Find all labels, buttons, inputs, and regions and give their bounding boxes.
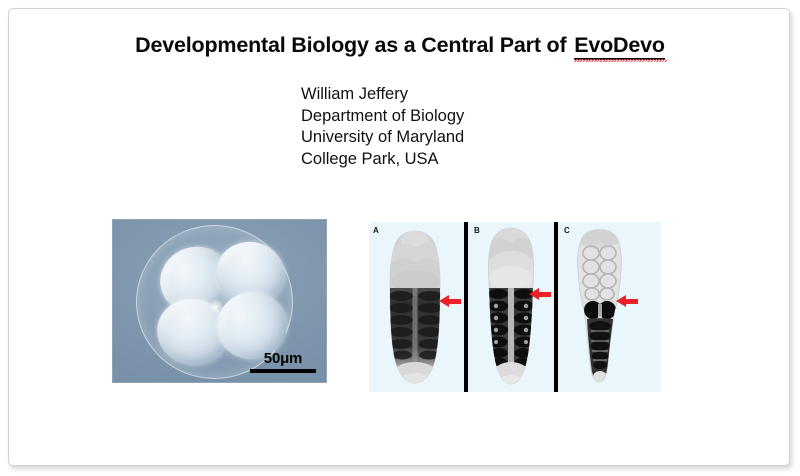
four-cell-embryo-micrograph: 50μm <box>112 219 327 383</box>
slide-canvas: Developmental Biology as a Central Part … <box>8 8 790 466</box>
specimen-image-c <box>558 222 661 392</box>
scale-bar-label: 50μm <box>250 351 316 367</box>
arrow-shaft <box>538 292 551 297</box>
author-location-line: College Park, USA <box>301 149 464 171</box>
panel-divider-bc <box>554 222 558 392</box>
panel-divider-ab <box>464 222 468 392</box>
cell-junction-highlight <box>209 300 223 313</box>
specimen-image-b <box>468 222 555 392</box>
author-affiliation-block: William Jeffery Department of Biology Un… <box>301 84 464 170</box>
panel-label-b: B <box>474 226 480 235</box>
annotation-arrow-a <box>439 295 461 307</box>
author-department-line: Department of Biology <box>301 106 464 128</box>
panel-label-a: A <box>373 226 379 235</box>
specimen-panel-a: A <box>369 222 465 392</box>
panel-label-c: C <box>564 226 570 235</box>
author-university-line: University of Maryland <box>301 127 464 149</box>
specimen-panel-c: C <box>558 222 661 392</box>
scale-bar: 50μm <box>250 351 316 373</box>
annotation-arrow-c <box>616 295 638 307</box>
page-title: Developmental Biology as a Central Part … <box>9 33 790 58</box>
arrow-shaft <box>448 299 461 304</box>
specimen-comparison-figure: A <box>369 222 661 392</box>
page-title-plain-text: Developmental Biology as a Central Part … <box>135 33 572 57</box>
specimen-panel-b: B <box>468 222 555 392</box>
scale-bar-line <box>250 369 316 373</box>
specimen-image-a <box>369 222 465 392</box>
annotation-arrow-b <box>529 288 551 300</box>
author-name-line: William Jeffery <box>301 84 464 106</box>
arrow-shaft <box>625 299 638 304</box>
page-title-misspelled-word: EvoDevo <box>574 33 665 60</box>
